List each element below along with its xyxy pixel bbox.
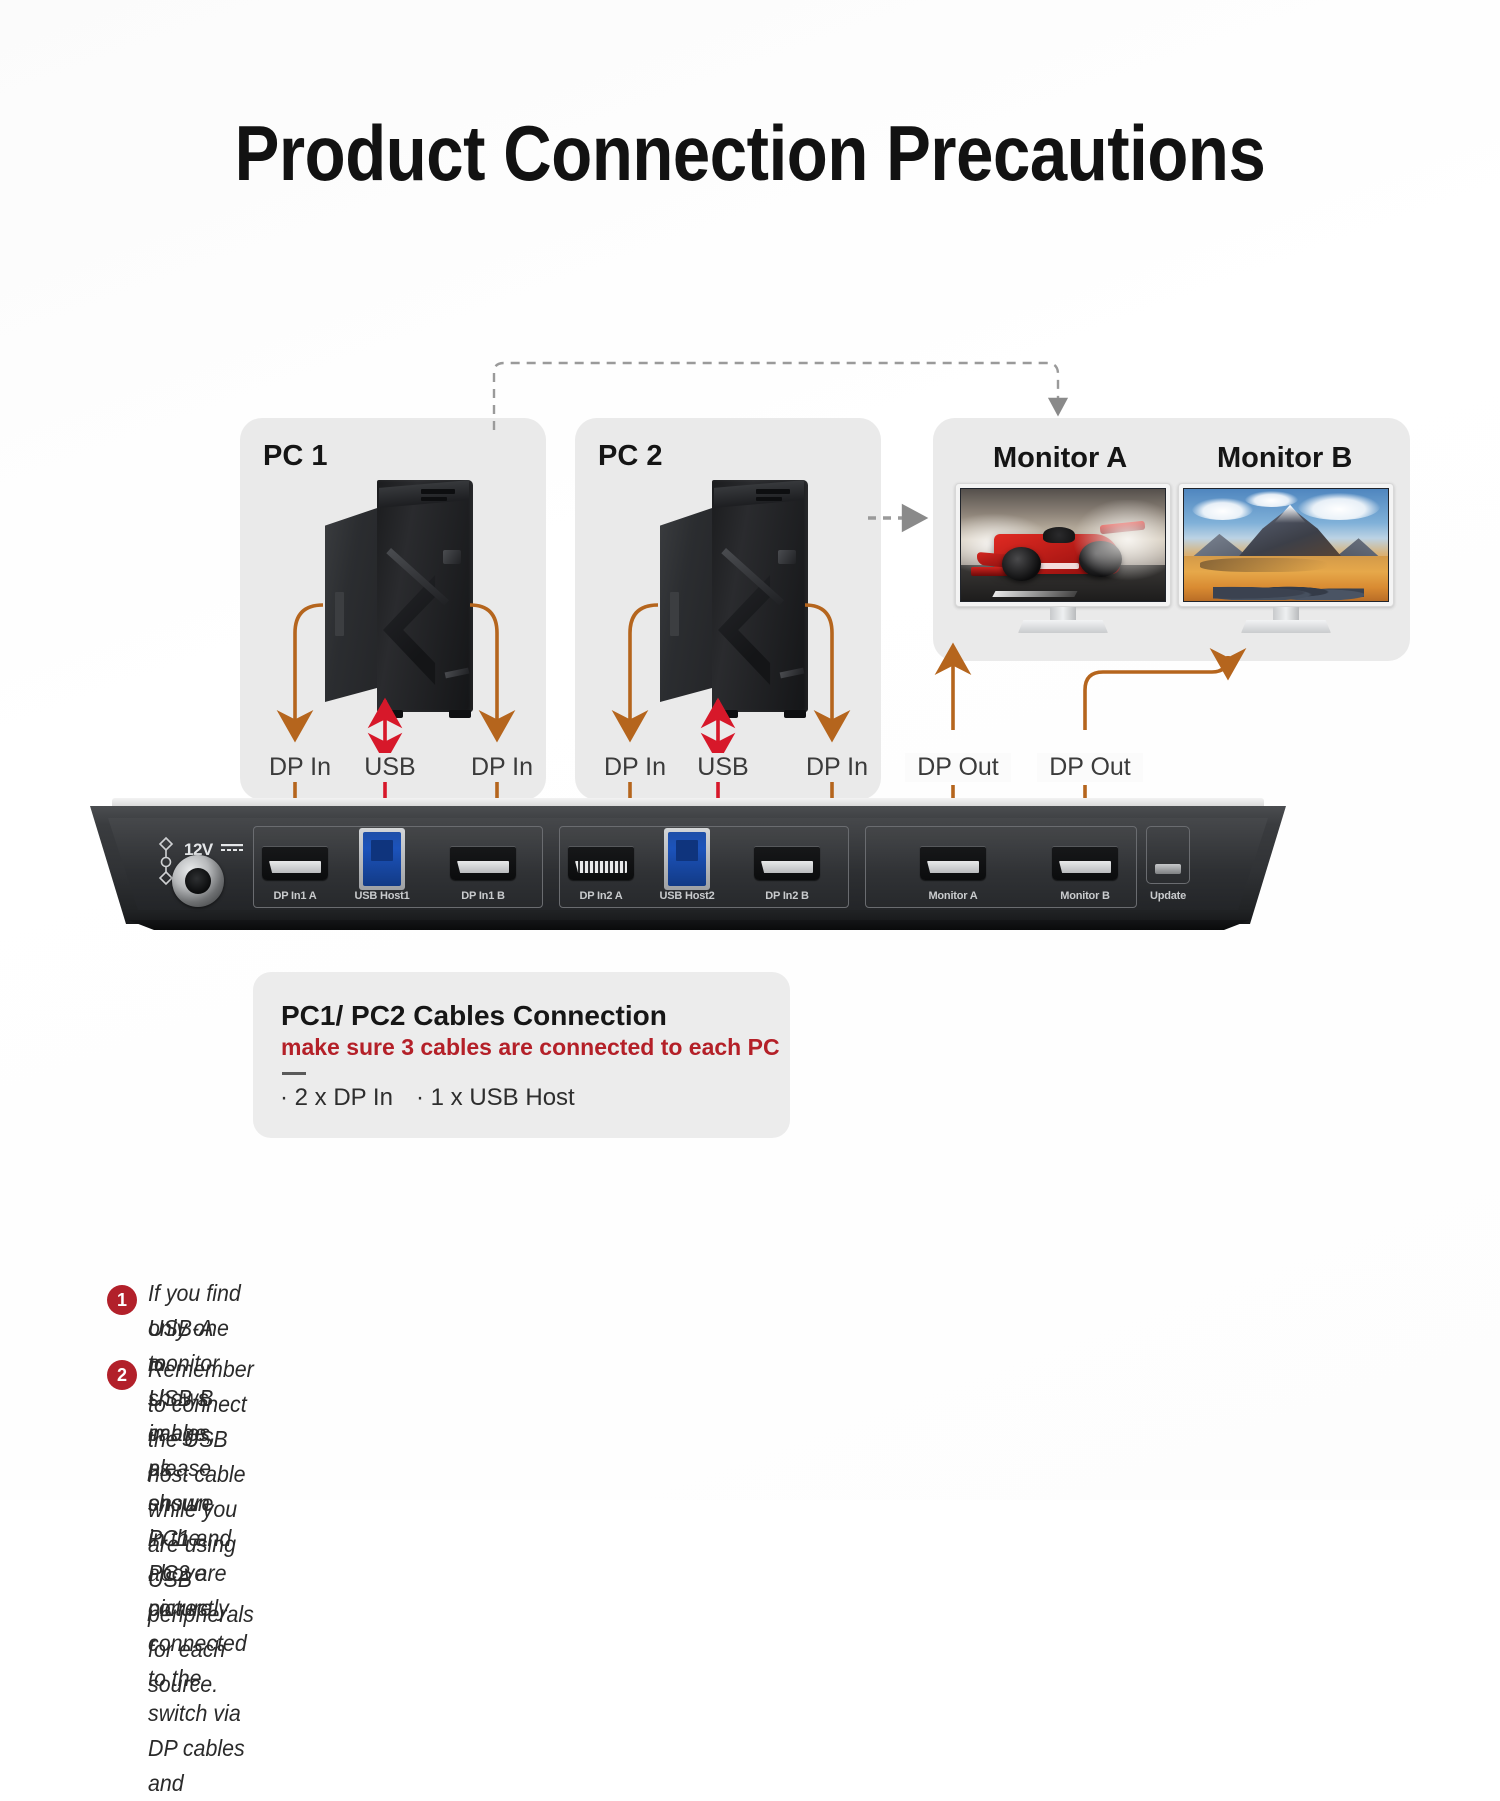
port-label-dp-in2-b: DP In2 B: [742, 890, 832, 902]
tower-vent: [421, 497, 447, 501]
cloud: [1192, 498, 1253, 520]
cable-label-pc1-usb: USB: [354, 753, 426, 782]
pc2-tower: [660, 480, 810, 712]
f1-lane-marking: [992, 591, 1077, 597]
cable-label-pc1-dp-b: DP In: [461, 753, 543, 782]
port-dp-in2-a[interactable]: [568, 846, 634, 880]
port-dp-in1-a[interactable]: [262, 846, 328, 880]
pc1-label: PC 1: [263, 440, 327, 473]
update-port-frame: [1146, 826, 1190, 884]
cable-label-monitor-a-out: DP Out: [905, 753, 1011, 782]
pc1-tower: [325, 480, 475, 712]
cable-label-monitor-b-out: DP Out: [1037, 753, 1143, 782]
f1-wallpaper: [961, 489, 1165, 601]
port-label-usb-host2: USB Host2: [642, 890, 732, 902]
tower-foot: [449, 710, 471, 718]
page-root: Product Connection Precautions PC 1 PC 2…: [0, 0, 1500, 1500]
foreground-rocks: [1213, 582, 1364, 600]
port-label-dp-in2-a: DP In2 A: [556, 890, 646, 902]
monitor-a: [955, 483, 1171, 607]
tower-side-panel: [660, 506, 718, 702]
port-label-monitor-a: Monitor A: [908, 890, 998, 902]
footnote-2-line1: Remember to connect the USB host cable w…: [148, 1352, 254, 1702]
port-usb-host2[interactable]: [664, 828, 710, 890]
cable-monitor-b-out: [1085, 656, 1228, 730]
tower-vent: [756, 497, 782, 501]
mountain-wallpaper: [1184, 489, 1388, 601]
monitor-a-stand-base: [1018, 620, 1108, 633]
dc-power-jack[interactable]: [172, 855, 224, 907]
infobox-subheading: make sure 3 cables are connected to each…: [281, 1034, 780, 1061]
infobox-bullet-dp-in: · 2 x DP In: [280, 1084, 393, 1112]
cable-label-pc1-dp-a: DP In: [259, 753, 341, 782]
monitor-a-screen: [960, 488, 1166, 602]
field-shadow: [1200, 558, 1326, 571]
tower-vent: [756, 489, 790, 494]
port-label-update: Update: [1123, 890, 1213, 902]
tower-logo-plate: [443, 550, 461, 564]
cloud: [1298, 493, 1380, 520]
monitor-a-label: Monitor A: [993, 442, 1127, 475]
tower-vent: [335, 592, 344, 636]
infobox-divider: [282, 1072, 306, 1075]
f1-tyre: [1002, 547, 1041, 581]
dc-symbol-icon: [221, 843, 243, 854]
page-title: Product Connection Precautions: [105, 108, 1395, 199]
monitor-b-label: Monitor B: [1217, 442, 1352, 475]
monitor-b-stand-base: [1241, 620, 1331, 633]
tower-foot: [716, 710, 738, 718]
port-label-dp-in1-a: DP In1 A: [250, 890, 340, 902]
monitor-b-screen: [1183, 488, 1389, 602]
monitor-b: [1178, 483, 1394, 607]
pc2-label: PC 2: [598, 440, 662, 473]
cable-label-pc2-usb: USB: [687, 753, 759, 782]
port-update[interactable]: [1155, 864, 1181, 874]
port-label-dp-in1-b: DP In1 B: [438, 890, 528, 902]
port-dp-in1-b[interactable]: [450, 846, 516, 880]
tower-foot: [381, 710, 403, 718]
cables-connection-infobox: PC1/ PC2 Cables Connection make sure 3 c…: [253, 972, 790, 1138]
infobox-heading: PC1/ PC2 Cables Connection: [281, 1000, 667, 1032]
cloud: [1245, 491, 1298, 507]
kvm-switch-device: 12V DP In1 A USB Host1 DP In1 B DP In2 A…: [90, 798, 1286, 938]
tower-vent: [421, 489, 455, 494]
f1-smoke-right: [1063, 500, 1166, 587]
cable-label-pc2-dp-b: DP In: [796, 753, 878, 782]
infobox-bullet-usb-host: · 1 x USB Host: [416, 1084, 575, 1112]
tower-side-panel: [325, 506, 383, 702]
port-monitor-a[interactable]: [920, 846, 986, 880]
footnote-2-badge: 2: [107, 1360, 137, 1390]
port-label-monitor-b: Monitor B: [1040, 890, 1130, 902]
port-label-usb-host1: USB Host1: [337, 890, 427, 902]
footnote-1-badge: 1: [107, 1285, 137, 1315]
port-monitor-b[interactable]: [1052, 846, 1118, 880]
tower-vent: [670, 592, 679, 636]
device-bottom-lip: [98, 920, 1280, 930]
port-usb-host1[interactable]: [359, 828, 405, 890]
cable-label-pc2-dp-a: DP In: [594, 753, 676, 782]
tower-foot: [784, 710, 806, 718]
tower-logo-plate: [778, 550, 796, 564]
port-dp-in2-b[interactable]: [754, 846, 820, 880]
